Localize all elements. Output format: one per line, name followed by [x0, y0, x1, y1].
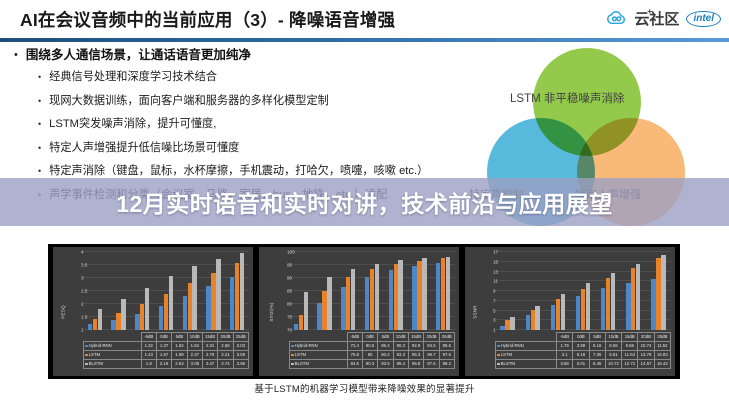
table-cell: 6.16: [589, 342, 605, 351]
bar: [576, 296, 580, 330]
bar: [656, 258, 660, 330]
bar: [111, 320, 115, 330]
table-row: -5dB0dB5dB10dB15dB20dB25dB: [290, 333, 455, 342]
bar-groups: [83, 252, 249, 330]
table-cell: 90.2: [378, 351, 393, 360]
bar: [394, 264, 398, 330]
legend-label: LSTM: [89, 352, 100, 357]
bar: [116, 313, 120, 330]
table-cell: 7.36: [589, 351, 605, 360]
header-divider: [0, 38, 729, 42]
x-axis-tick: 15dB: [202, 333, 217, 342]
x-axis-tick: 15dB: [622, 333, 638, 342]
bar: [375, 264, 379, 330]
table-cell: 94.5: [424, 342, 439, 351]
bar: [412, 266, 416, 330]
brand-plus-mark: +: [647, 7, 652, 16]
legend-entry: Hybrid-RNN: [290, 342, 348, 351]
table-cell: 72.4: [347, 342, 362, 351]
table-cell: 9.58: [622, 342, 638, 351]
bullet-sub-text: 现网大数据训练，面向客户端和服务器的多样化模型定制: [49, 94, 329, 108]
bar: [235, 263, 239, 330]
x-axis-tick: 5dB: [172, 333, 187, 342]
bar: [500, 326, 504, 330]
x-axis-tick: 15dB: [408, 333, 423, 342]
bar-group: [289, 252, 313, 330]
x-axis-tick: -5dB: [557, 333, 573, 342]
legend-label: LSTM: [295, 352, 306, 357]
bar: [183, 296, 187, 330]
table-cell: 12.71: [622, 360, 638, 369]
table-cell: 95.3: [408, 351, 423, 360]
table-cell: 92.9: [408, 342, 423, 351]
legend-swatch-icon: [291, 363, 294, 366]
bar: [561, 294, 565, 330]
chart-data-table: -5dB0dB5dB10dB15dB20dB25dBHybrid-RNN1.79…: [495, 332, 671, 369]
bar: [216, 259, 220, 330]
bar: [651, 279, 655, 330]
bar: [240, 253, 244, 330]
legend-entry: LSTM: [84, 351, 142, 360]
table-cell: 1.62: [172, 342, 187, 351]
legend-swatch-icon: [497, 363, 500, 366]
x-axis-tick: 5dB: [589, 333, 605, 342]
bar: [206, 286, 210, 330]
bar: [140, 304, 144, 330]
table-cell: 97.6: [439, 351, 454, 360]
bullet-main: • 围绕多人通信场景，让通话语音更加纯净: [14, 48, 454, 63]
bar: [322, 291, 326, 330]
table-cell: 1.8: [141, 360, 156, 369]
x-axis-tick: 10dB: [187, 333, 202, 342]
intel-logo: intel: [686, 11, 721, 27]
plot-area: 11.522.533.54: [83, 252, 249, 330]
table-cell: 3.99: [573, 342, 589, 351]
x-axis-tick: -5dB: [347, 333, 362, 342]
table-row: BLSTM3.696.018.4510.7212.7114.5716.42: [496, 360, 671, 369]
table-cell: 80.5: [362, 342, 377, 351]
table-cell: 96.7: [424, 351, 439, 360]
bar-group: [570, 252, 595, 330]
list-item: • LSTM突发噪声消除，提升可懂度,: [38, 117, 454, 131]
legend-entry: Hybrid-RNN: [84, 342, 142, 351]
bar: [581, 289, 585, 330]
table-cell: 3.74: [218, 360, 233, 369]
bar: [626, 283, 630, 330]
table-cell: 1.99: [172, 351, 187, 360]
y-axis-label: PESQ: [60, 305, 65, 319]
table-cell: 86.4: [378, 342, 393, 351]
bar-group: [313, 252, 337, 330]
table-cell: 1.22: [141, 342, 156, 351]
table-cell: 15.83: [654, 351, 670, 360]
table-cell: 10.74: [638, 342, 654, 351]
chart-panel-ssnr: SSNR1357911131517-5dB0dB5dB10dB15dB20dB2…: [465, 247, 675, 376]
legend-label: Hybrid-RNN: [89, 343, 112, 348]
bar: [551, 305, 555, 330]
legend-entry: LSTM: [290, 351, 348, 360]
table-cell: 16.42: [654, 360, 670, 369]
legend-swatch-icon: [85, 345, 88, 348]
bar: [446, 257, 450, 330]
bar: [145, 288, 149, 330]
bullet-main-text: 围绕多人通信场景，让通话语音更加纯净: [26, 48, 251, 63]
bar: [98, 309, 102, 330]
bar: [88, 324, 92, 330]
y-axis-label: STOI(%): [269, 302, 274, 321]
bar: [526, 315, 530, 330]
bar: [505, 320, 509, 330]
bar: [159, 306, 163, 330]
table-cell: 90.3: [393, 342, 408, 351]
bar: [135, 314, 139, 330]
x-axis-tick: 0dB: [156, 333, 171, 342]
table-cell: 3.96: [233, 360, 248, 369]
bar: [370, 269, 374, 330]
legend-swatch-icon: [497, 345, 500, 348]
table-cell: 96.8: [408, 360, 423, 369]
cloud-logo-icon: [606, 8, 627, 29]
slide-header: AI在会议音频中的当前应用（3）- 降噪语音增强 云社区 + intel: [0, 0, 729, 40]
bar: [398, 260, 402, 330]
table-cell: 2.79: [202, 351, 217, 360]
legend-label: BLSTM: [89, 361, 103, 366]
bar-group: [360, 252, 384, 330]
bullet-dot-icon: •: [38, 117, 41, 131]
table-cell: 3.21: [218, 351, 233, 360]
table-cell: 11.64: [622, 351, 638, 360]
bar-group: [130, 252, 154, 330]
bar: [317, 303, 321, 330]
bar-group: [520, 252, 545, 330]
bullet-dot-icon: •: [38, 70, 41, 84]
table-row: Hybrid-RNN1.793.996.168.069.5810.7411.52: [496, 342, 671, 351]
bar: [586, 283, 590, 330]
list-item: • 现网大数据训练，面向客户端和服务器的多样化模型定制: [38, 94, 454, 108]
table-cell: 2.68: [218, 342, 233, 351]
bar-group: [154, 252, 178, 330]
legend-swatch-icon: [291, 345, 294, 348]
figure-caption: 基于LSTM的机器学习模型带来降噪效果的显著提升: [0, 381, 729, 395]
bar-group: [596, 252, 621, 330]
bar: [661, 255, 665, 330]
table-cell: 10.72: [605, 360, 621, 369]
table-cell: 3.03: [233, 342, 248, 351]
table-cell: 9.51: [605, 351, 621, 360]
x-axis-tick: 5dB: [378, 333, 393, 342]
bar: [510, 317, 514, 330]
table-cell: 3.47: [202, 360, 217, 369]
bar-group: [431, 252, 455, 330]
table-cell: 2.31: [202, 342, 217, 351]
x-axis-tick: 10dB: [393, 333, 408, 342]
chart-data-table: -5dB0dB5dB10dB15dB20dB25dBHybrid-RNN1.22…: [83, 332, 249, 369]
bar: [164, 294, 168, 330]
bullet-sub-text: 特定声消除（键盘，鼠标，水杯摩擦，手机震动，打哈欠，喷嚏，咳嗽 etc.）: [49, 164, 428, 178]
bar-group: [83, 252, 107, 330]
chart-panel-stoi: STOI(%)707580859095100-5dB0dB5dB10dB15dB…: [259, 247, 459, 376]
bullet-dot-icon: •: [14, 48, 18, 62]
legend-label: Hybrid-RNN: [501, 343, 524, 348]
x-axis-tick: 0dB: [573, 333, 589, 342]
bar: [631, 268, 635, 330]
table-cell: 93.3: [393, 351, 408, 360]
chart-data-table: -5dB0dB5dB10dB15dB20dB25dBHybrid-RNN72.4…: [289, 332, 455, 369]
legend-label: BLSTM: [501, 361, 515, 366]
bar: [299, 315, 303, 330]
bar: [422, 258, 426, 330]
x-axis-tick: 25dB: [654, 333, 670, 342]
table-cell: 5.18: [573, 351, 589, 360]
bar-group: [408, 252, 432, 330]
bar-group: [545, 252, 570, 330]
table-cell: 1.67: [156, 351, 171, 360]
legend-swatch-icon: [85, 354, 88, 357]
bar: [169, 276, 173, 330]
slide-root: AI在会议音频中的当前应用（3）- 降噪语音增强 云社区 + intel • 围…: [0, 0, 729, 400]
bar-group: [107, 252, 131, 330]
table-cell: 13.78: [638, 351, 654, 360]
table-cell: 95.4: [393, 360, 408, 369]
bar: [121, 299, 125, 330]
table-cell: 1.43: [141, 351, 156, 360]
bar-group: [225, 252, 249, 330]
list-item: • 经典信号处理和深度学习技术结合: [38, 70, 454, 84]
bar-group: [384, 252, 408, 330]
bar: [192, 266, 196, 330]
table-cell: 3.1: [557, 351, 573, 360]
table-cell: 93.5: [378, 360, 393, 369]
table-row: -5dB0dB5dB10dB15dB20dB25dB: [84, 333, 249, 342]
bar: [294, 324, 298, 330]
bullet-dot-icon: •: [38, 164, 41, 178]
table-cell: 90.3: [362, 360, 377, 369]
bar: [417, 261, 421, 330]
table-cell: 97.6: [424, 360, 439, 369]
bar: [351, 269, 355, 330]
bar: [556, 299, 560, 330]
bar: [327, 277, 331, 330]
bar: [606, 278, 610, 330]
bullet-sub-text: 经典信号处理和深度学习技术结合: [49, 70, 217, 84]
table-cell: 1.94: [187, 342, 202, 351]
bar-group: [178, 252, 202, 330]
list-item: • 特定声消除（键盘，鼠标，水杯摩擦，手机震动，打哈欠，喷嚏，咳嗽 etc.）: [38, 164, 454, 178]
bar: [531, 310, 535, 330]
venn-diagram: LSTM 非平稳噪声消除 特定声抑制 特定人声增强: [455, 46, 725, 196]
bar: [304, 292, 308, 330]
bar: [230, 277, 234, 330]
bar: [93, 319, 97, 330]
venn-label-green: LSTM 非平稳噪声消除: [510, 90, 624, 106]
x-axis-tick: 20dB: [638, 333, 654, 342]
table-cell: 8.06: [605, 342, 621, 351]
x-axis-tick: -5dB: [141, 333, 156, 342]
table-cell: 84.5: [347, 360, 362, 369]
table-cell: 85: [362, 351, 377, 360]
table-cell: 3.69: [557, 360, 573, 369]
x-axis-tick: 10dB: [605, 333, 621, 342]
chart-panel-pesq: PESQ11.522.533.54-5dB0dB5dB10dB15dB20dB2…: [53, 247, 253, 376]
x-axis-tick: 0dB: [362, 333, 377, 342]
x-axis-tick: 25dB: [439, 333, 454, 342]
bar: [346, 277, 350, 330]
x-axis-tick: 20dB: [218, 333, 233, 342]
bar-group: [202, 252, 226, 330]
plot-area: 707580859095100: [289, 252, 455, 330]
table-row: Hybrid-RNN72.480.586.490.392.994.595.6: [290, 342, 455, 351]
table-row: BLSTM1.82.192.633.083.473.743.96: [84, 360, 249, 369]
legend-entry: Hybrid-RNN: [496, 342, 557, 351]
table-row: LSTM75.88590.293.395.396.797.6: [290, 351, 455, 360]
brand-name: 云社区: [634, 11, 679, 28]
table-row: LSTM1.431.671.992.372.793.213.59: [84, 351, 249, 360]
brand-group: 云社区 + intel: [606, 8, 721, 29]
table-cell: 98.2: [439, 360, 454, 369]
table-cell: 14.57: [638, 360, 654, 369]
table-cell: 2.19: [156, 360, 171, 369]
legend-entry: LSTM: [496, 351, 557, 360]
bar: [389, 270, 393, 330]
legend-label: BLSTM: [295, 361, 309, 366]
table-row: LSTM3.15.187.369.5111.6413.7815.83: [496, 351, 671, 360]
bullet-dot-icon: •: [38, 141, 41, 155]
y-axis-label: SSNR: [472, 305, 477, 319]
bar-group: [495, 252, 520, 330]
bar: [636, 264, 640, 330]
bar: [211, 273, 215, 330]
table-cell: 1.79: [557, 342, 573, 351]
legend-entry: BLSTM: [84, 360, 142, 369]
legend-swatch-icon: [291, 354, 294, 357]
bar-groups: [495, 252, 671, 330]
legend-entry: BLSTM: [290, 360, 348, 369]
legend-label: LSTM: [501, 352, 512, 357]
bar-groups: [289, 252, 455, 330]
x-axis-tick: 20dB: [424, 333, 439, 342]
table-cell: 95.6: [439, 342, 454, 351]
overlay-title: 12月实时语音和实时对讲，技术前沿与应用展望: [0, 180, 729, 224]
plot-area: 1357911131517: [495, 252, 671, 330]
table-corner-cell: [496, 333, 557, 342]
bar: [441, 258, 445, 330]
table-cell: 3.59: [233, 351, 248, 360]
table-cell: 1.37: [156, 342, 171, 351]
bar: [341, 287, 345, 330]
legend-label: Hybrid-RNN: [295, 343, 318, 348]
x-axis-tick: 25dB: [233, 333, 248, 342]
bar: [188, 283, 192, 330]
bar-group: [646, 252, 671, 330]
bar: [365, 277, 369, 330]
legend-entry: BLSTM: [496, 360, 557, 369]
legend-swatch-icon: [497, 354, 500, 357]
legend-swatch-icon: [85, 363, 88, 366]
table-cell: 6.01: [573, 360, 589, 369]
bar: [535, 306, 539, 330]
bar: [601, 288, 605, 330]
bullet-dot-icon: •: [38, 94, 41, 108]
table-corner-cell: [290, 333, 348, 342]
bullet-sub-text: LSTM突发噪声消除，提升可懂度,: [49, 117, 216, 131]
bar: [611, 273, 615, 330]
table-cell: 75.8: [347, 351, 362, 360]
table-cell: 2.63: [172, 360, 187, 369]
page-title: AI在会议音频中的当前应用（3）- 降噪语音增强: [20, 7, 395, 32]
table-cell: 2.37: [187, 351, 202, 360]
table-cell: 8.45: [589, 360, 605, 369]
table-corner-cell: [84, 333, 142, 342]
table-row: BLSTM84.590.393.595.496.897.698.2: [290, 360, 455, 369]
brand-label: 云社区 +: [634, 8, 679, 29]
bullet-sub-text: 特定人声增强提升低信噪比场景可懂度: [49, 141, 239, 155]
list-item: • 特定人声增强提升低信噪比场景可懂度: [38, 141, 454, 155]
table-row: -5dB0dB5dB10dB15dB20dB25dB: [496, 333, 671, 342]
bar-group: [336, 252, 360, 330]
table-cell: 3.08: [187, 360, 202, 369]
bar-group: [621, 252, 646, 330]
chart-strip: PESQ11.522.533.54-5dB0dB5dB10dB15dB20dB2…: [48, 244, 680, 379]
table-row: Hybrid-RNN1.221.371.621.942.312.683.03: [84, 342, 249, 351]
table-cell: 11.52: [654, 342, 670, 351]
bar: [436, 263, 440, 330]
